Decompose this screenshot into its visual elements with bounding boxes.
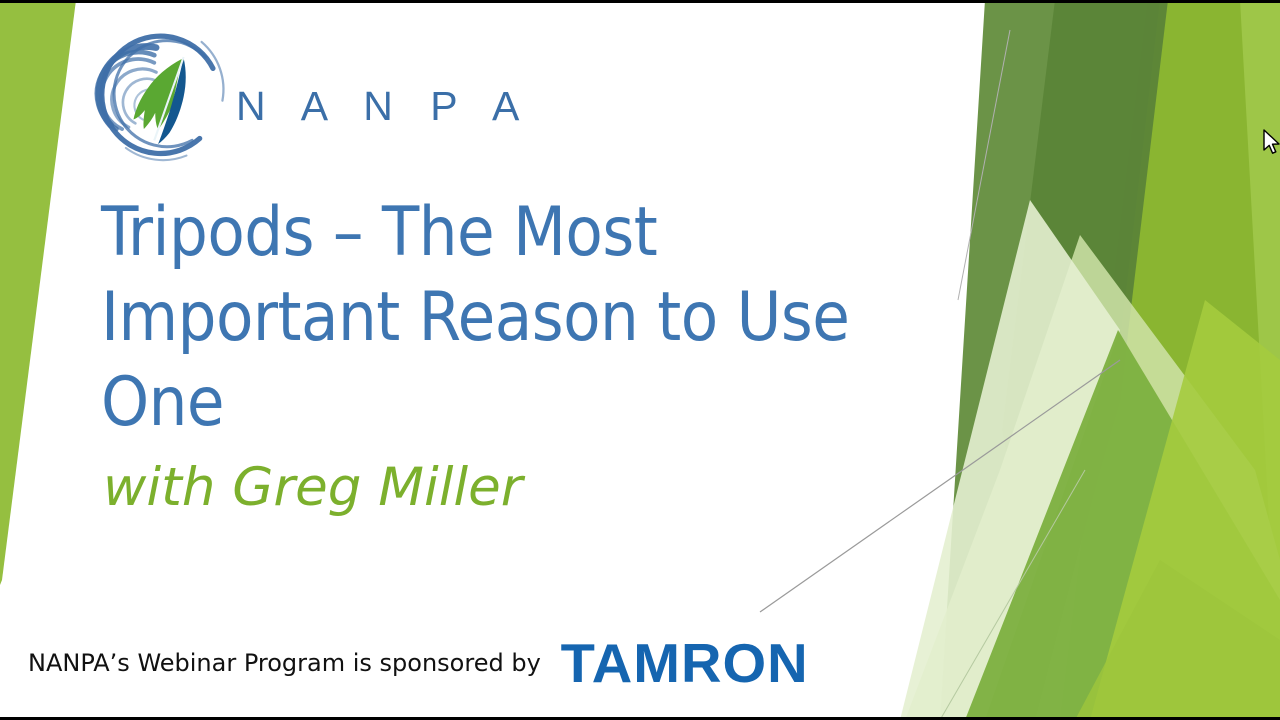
green-shape-mid-lower [965,330,1280,720]
presenter-subtitle: with Greg Miller [103,455,1001,521]
sponsor-text: NANPA’s Webinar Program is sponsored by [28,651,541,675]
green-shape-dark-inner [1002,0,1168,660]
title-line-1: Tripods – The Most [101,193,657,272]
title-line-2: Important Reason to Use [101,278,849,357]
title-line-3: One [101,363,224,442]
mouse-pointer-arrow-icon [1262,129,1280,157]
letterbox-top-bar [0,0,1280,3]
nanpa-wordmark: N A N P A [236,60,532,127]
green-shape-right-bright [1060,0,1280,720]
nanpa-logo: N A N P A [88,16,388,171]
page-title: Tripods – The Most Important Reason to U… [101,190,1001,445]
green-shape-lower-bright [1090,300,1280,720]
title-block: Tripods – The Most Important Reason to U… [101,190,1001,521]
sponsor-strip: NANPA’s Webinar Program is sponsored by … [28,634,806,692]
nanpa-feather-swirl-logo-icon [88,19,230,169]
green-shape-lower-accent [1075,560,1280,720]
left-green-wedge [0,0,76,585]
green-shape-far-right-light [1150,0,1280,720]
tamron-logo: TAMRON [560,636,808,691]
title-slide: N A N P A Tripods – The Most Important R… [0,0,1280,720]
